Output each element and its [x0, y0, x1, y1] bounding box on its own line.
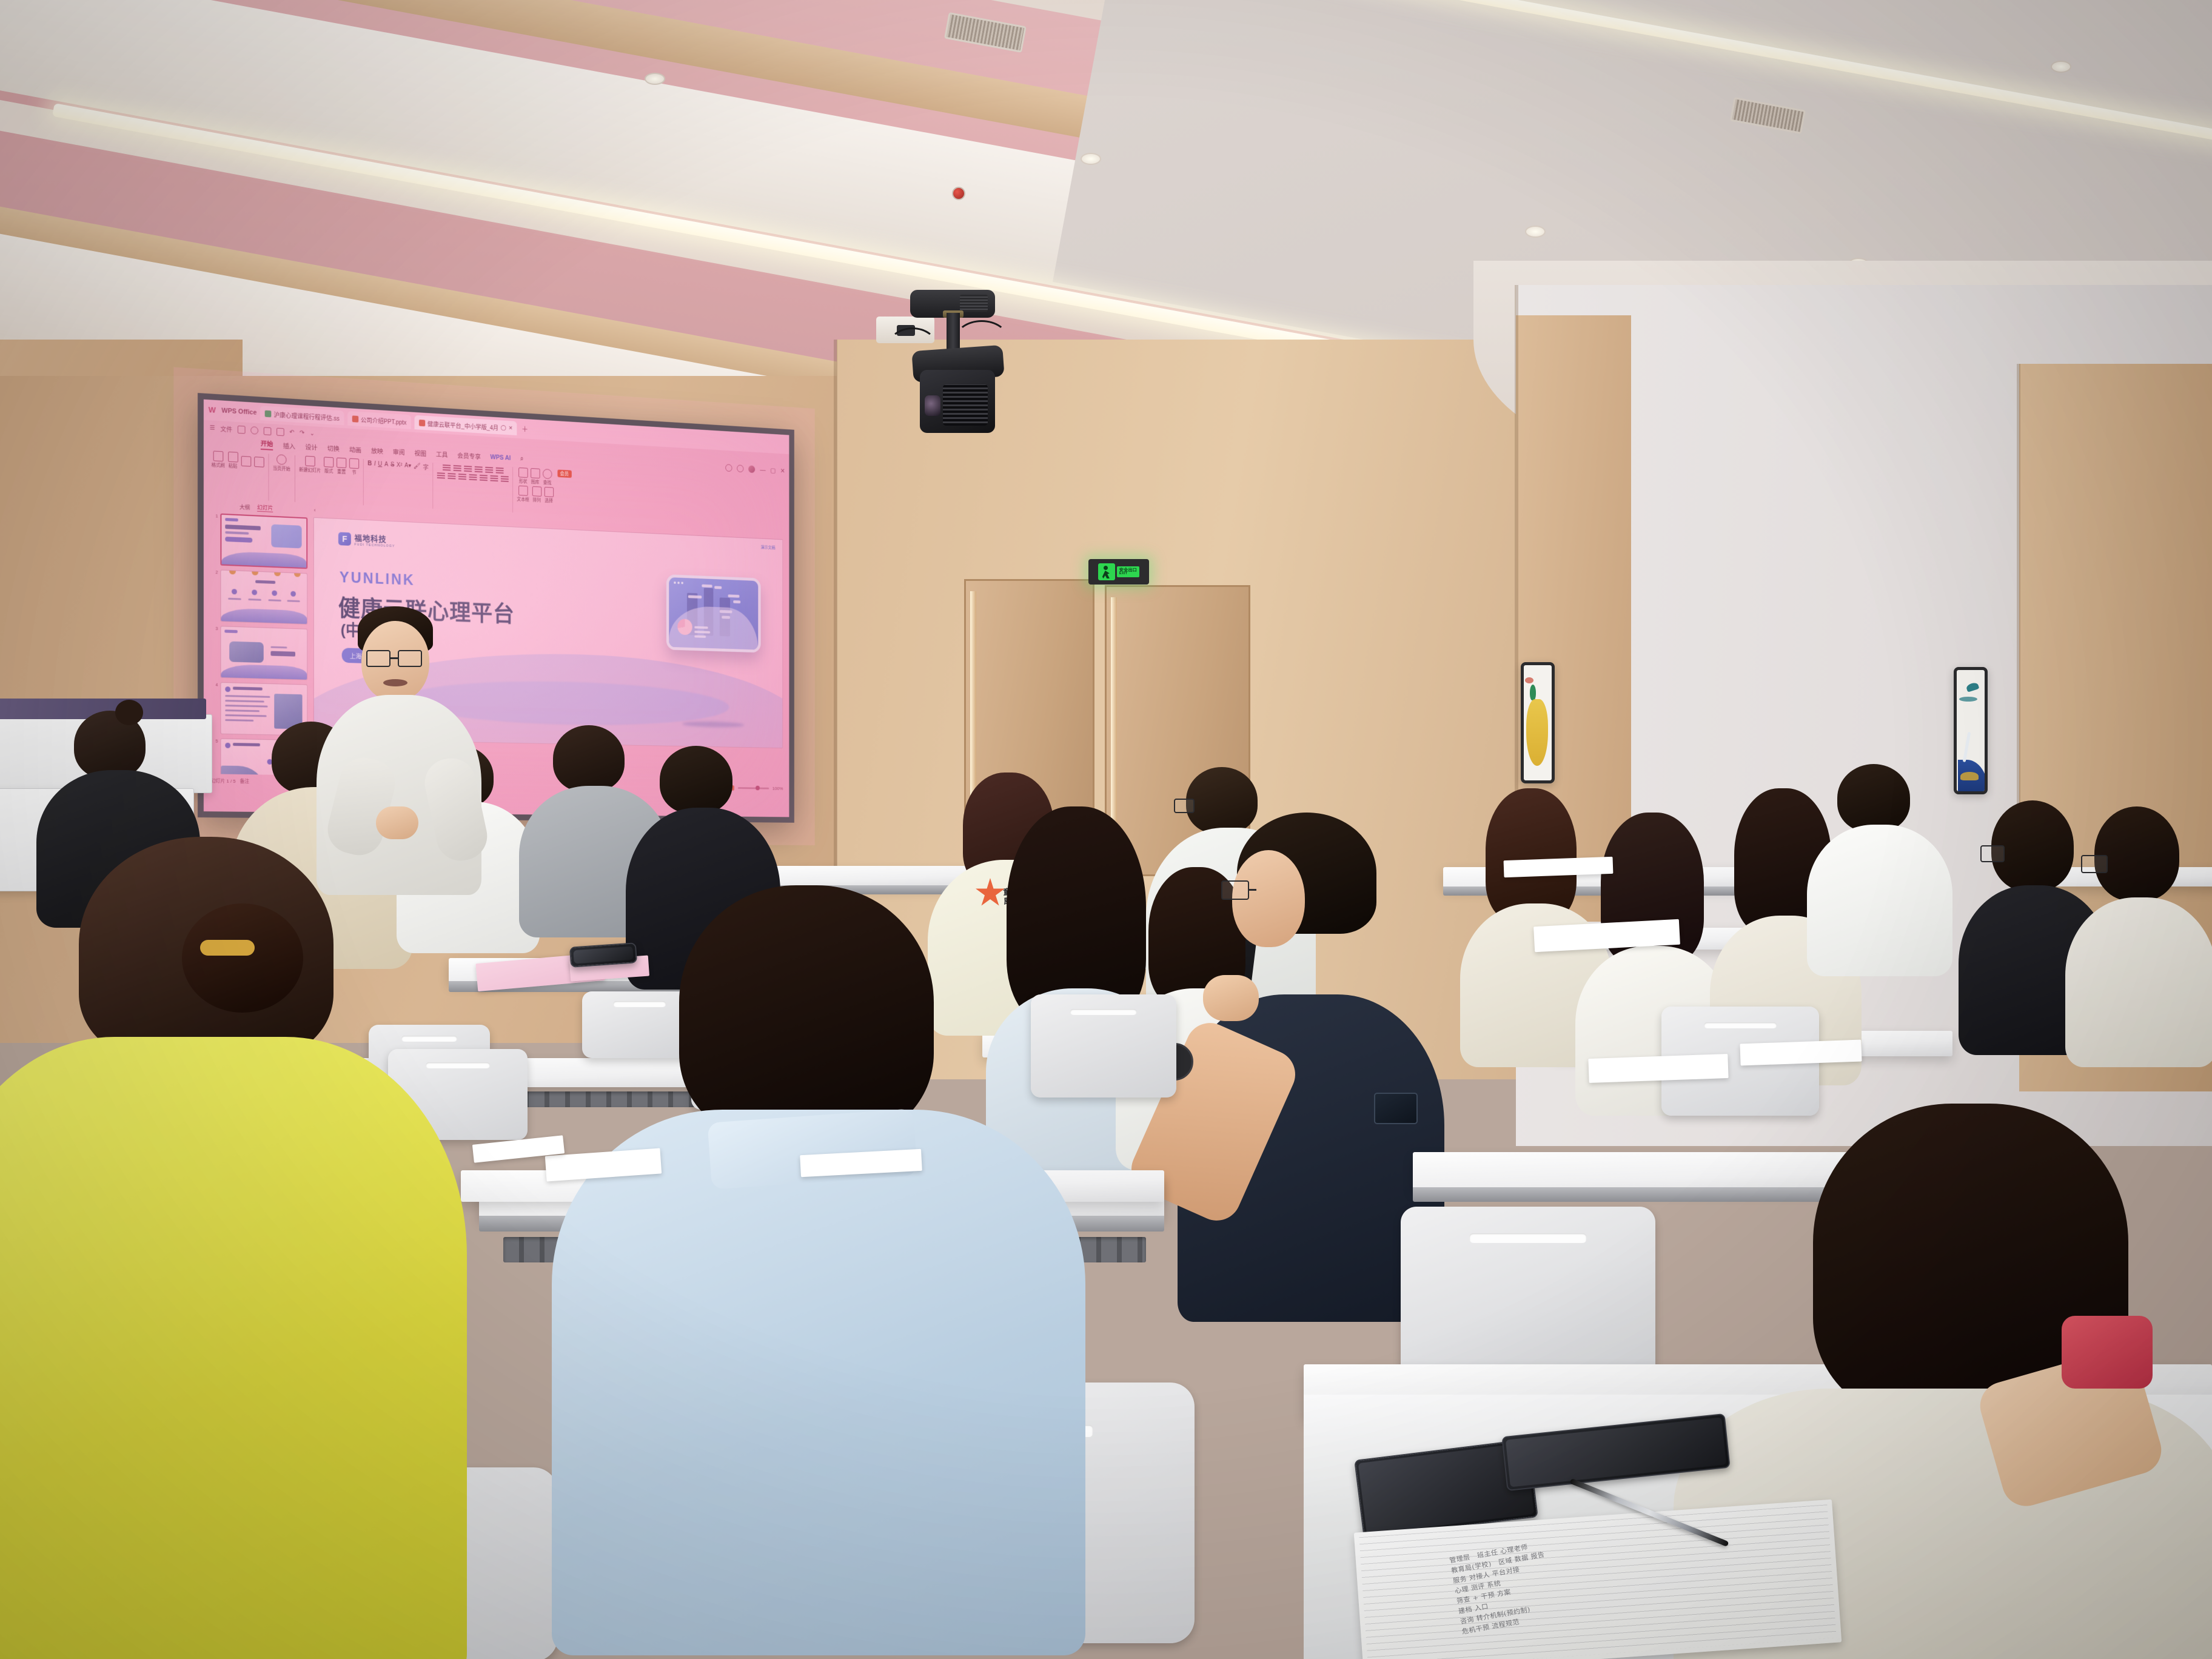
- align-right-icon[interactable]: [458, 472, 466, 480]
- file-menu[interactable]: 文件: [220, 424, 232, 434]
- find-button[interactable]: 查找: [543, 469, 552, 486]
- zoom-slider[interactable]: [738, 787, 769, 789]
- save-icon[interactable]: [238, 425, 246, 434]
- notes-toggle[interactable]: 备注: [240, 777, 250, 784]
- hamburger-icon[interactable]: ☰: [210, 424, 215, 431]
- ribbon-tab-start[interactable]: 开始: [261, 439, 273, 451]
- slide-eyebrow: YUNLINK: [340, 569, 415, 589]
- slide-corner-note: 演示文稿: [761, 545, 776, 551]
- downlight-icon: [1081, 153, 1101, 165]
- glasses-icon: [1174, 799, 1195, 813]
- new-slide-button[interactable]: 新建幻灯片: [299, 455, 321, 474]
- xls-icon: [265, 410, 272, 417]
- classroom-presentation-photo: W WPS Office 沪康心理课程行程评估.ss 公司介绍PPT.pptx …: [0, 0, 2212, 1659]
- pie-chart-icon: [677, 618, 692, 635]
- align-left-icon[interactable]: [437, 471, 445, 478]
- ribbon-tab-review[interactable]: 审阅: [393, 447, 405, 457]
- glasses-icon: [1221, 880, 1249, 900]
- ribbon-tab-slideshow[interactable]: 放映: [371, 446, 383, 456]
- hair-tie: [200, 940, 255, 956]
- textbox-button[interactable]: 文本框: [517, 486, 529, 503]
- shapes-icon: [518, 468, 528, 478]
- thumbnail-item[interactable]: 3: [213, 626, 308, 680]
- indent-decrease-icon[interactable]: [464, 464, 472, 472]
- ribbon-tab-transition[interactable]: 切换: [327, 444, 340, 454]
- new-slide-icon: [305, 456, 315, 467]
- cut-button[interactable]: [241, 456, 251, 467]
- export-icon[interactable]: [276, 427, 284, 436]
- bullet-list-icon[interactable]: [443, 463, 451, 471]
- help-icon[interactable]: [726, 464, 732, 472]
- thumbnail-number: 5: [213, 738, 218, 743]
- yellow-shirt: [0, 1037, 467, 1659]
- paste-icon: [228, 452, 238, 463]
- underline-button[interactable]: U: [378, 461, 382, 468]
- thumbnail-number: 2: [213, 569, 218, 575]
- print-icon[interactable]: [250, 426, 258, 435]
- superscript-button[interactable]: X²: [397, 462, 402, 469]
- ribbon-group-slideshow: 当页开始: [269, 454, 295, 501]
- new-tab-icon[interactable]: ＋: [521, 424, 528, 434]
- member-badge[interactable]: 会员: [557, 469, 571, 478]
- shirt-logo-patch: [1374, 1093, 1418, 1124]
- exit-sign-english: EXIT: [1119, 572, 1137, 576]
- undo-icon[interactable]: ↶: [289, 429, 294, 435]
- columns-icon[interactable]: [491, 474, 498, 481]
- presenter-hands: [376, 806, 418, 839]
- ppt-icon: [352, 415, 358, 422]
- wall-art-crane-wave: [1954, 667, 1988, 794]
- play-icon: [276, 454, 286, 465]
- format-painter-button[interactable]: 格式刷: [212, 451, 225, 469]
- text-effect-button[interactable]: A: [384, 461, 388, 468]
- restore-icon[interactable]: ◯: [501, 424, 506, 431]
- glasses-icon: [1980, 845, 2005, 862]
- gallery-button[interactable]: 图库: [531, 468, 540, 486]
- italic-button[interactable]: I: [374, 461, 376, 468]
- running-person-icon: [1098, 563, 1115, 580]
- clear-format-icon[interactable]: 字: [423, 462, 429, 471]
- preview-icon[interactable]: [264, 427, 272, 435]
- ribbon-tab-insert[interactable]: 插入: [283, 441, 295, 451]
- chair-front-3[interactable]: [1401, 1207, 1655, 1389]
- thumbnail-slide-1[interactable]: [220, 514, 307, 569]
- number-list-icon[interactable]: [453, 464, 461, 471]
- projector-body: [920, 370, 995, 433]
- cut-icon: [241, 456, 251, 467]
- indent-increase-icon[interactable]: [474, 465, 482, 472]
- layout-button[interactable]: 版式: [324, 457, 333, 474]
- thumbnail-number: 3: [213, 626, 218, 631]
- maximize-icon[interactable]: ▢: [770, 466, 776, 474]
- ribbon-tab-view[interactable]: 视图: [415, 449, 427, 458]
- wall-art-peacock: [1521, 662, 1555, 783]
- search-icon[interactable]: ⌕: [520, 455, 523, 463]
- close-icon[interactable]: ✕: [780, 467, 785, 474]
- doc-tab-label: 健康云联平台_中小学版_4月: [427, 418, 498, 431]
- textbox-icon: [518, 486, 528, 496]
- select-icon: [544, 487, 553, 497]
- doc-tab-2-active[interactable]: 健康云联平台_中小学版_4月 ◯ ✕: [415, 415, 517, 435]
- tab-outline[interactable]: 大纲: [240, 503, 250, 511]
- distribute-icon[interactable]: [480, 474, 488, 481]
- company-logo: F 福地科技 FUDI TECHNOLOGY: [338, 531, 395, 549]
- ribbon-group-clipboard: 格式刷 粘贴: [207, 451, 269, 501]
- ribbon-tab-member[interactable]: 会员专享: [457, 451, 481, 461]
- format-painter-icon: [213, 451, 223, 461]
- ribbon-group-paragraph: [433, 463, 513, 512]
- projector-lens-icon: [925, 395, 940, 416]
- ceiling-projector: [882, 285, 1022, 437]
- collapse-pane-icon[interactable]: ‹: [314, 507, 316, 513]
- sprinkler-head-icon: [952, 187, 965, 200]
- copy-button[interactable]: [254, 457, 264, 468]
- arrange-button[interactable]: 排列: [532, 486, 541, 504]
- ribbon-tab-design[interactable]: 设计: [305, 442, 317, 452]
- strikethrough-button[interactable]: S: [390, 461, 394, 468]
- more-icon[interactable]: ⌄: [310, 430, 315, 437]
- copy-icon: [254, 457, 264, 468]
- select-button[interactable]: 选择: [544, 487, 553, 504]
- thumbnail-number: 1: [213, 513, 218, 518]
- avatar[interactable]: [748, 465, 755, 473]
- minimize-icon[interactable]: —: [760, 466, 765, 474]
- thumbnail-number: 4: [213, 682, 218, 688]
- doc-tab-label: 沪康心理课程行程评估.ss: [274, 409, 340, 422]
- ribbon-group-drawing: 形状 图库 查找 文本框: [513, 467, 557, 515]
- dashboard-illustration: [666, 574, 761, 652]
- reset-button[interactable]: 重置: [337, 458, 346, 475]
- downlight-icon: [2051, 61, 2071, 73]
- highlight-icon[interactable]: 🖌: [414, 463, 421, 469]
- notebook-handwriting: 管理层 班主任 心理老师 教育局(学校) 区域 数据 报告 服务 对接人 平台对…: [1449, 1539, 1556, 1637]
- ribbon-tab-tools[interactable]: 工具: [436, 450, 448, 460]
- wps-brand-label: WPS Office: [221, 407, 256, 416]
- thumbnail-slide-2[interactable]: [220, 569, 307, 625]
- align-center-icon[interactable]: [447, 472, 455, 479]
- glasses-icon: [398, 650, 422, 667]
- share-icon[interactable]: [737, 464, 744, 472]
- emergency-exit-sign: 安全出口 EXIT: [1088, 559, 1149, 585]
- thumbnail-item[interactable]: 1: [213, 513, 308, 569]
- smartart-icon[interactable]: [501, 475, 509, 482]
- bold-button[interactable]: B: [367, 460, 372, 467]
- chair-front-2[interactable]: [1031, 994, 1176, 1098]
- zoom-level: 100%: [773, 786, 783, 791]
- paper-stack-3: [1588, 1054, 1728, 1083]
- line-spacing-icon[interactable]: [485, 466, 493, 473]
- arrange-icon: [532, 486, 541, 497]
- downlight-icon: [645, 73, 665, 85]
- doc-tab-label: 公司介绍PPT.pptx: [361, 415, 406, 426]
- hand-on-chin: [1203, 975, 1259, 1021]
- doc-tab-0[interactable]: 沪康心理课程行程评估.ss: [260, 406, 344, 425]
- ppt-icon: [419, 419, 425, 426]
- wps-logo-icon: W: [209, 406, 218, 415]
- thumbnail-item[interactable]: 2: [213, 569, 308, 625]
- close-icon[interactable]: ✕: [509, 424, 513, 431]
- red-phone-case: [2062, 1316, 2153, 1389]
- thumbnail-slide-3[interactable]: [220, 626, 307, 680]
- reset-icon: [337, 458, 346, 469]
- section-button[interactable]: 节: [349, 458, 359, 476]
- section-icon: [349, 458, 359, 469]
- paste-button[interactable]: 粘贴: [228, 452, 238, 470]
- play-from-current-button[interactable]: 当页开始: [273, 454, 290, 472]
- gallery-icon: [531, 468, 540, 478]
- ribbon-group-slides: 新建幻灯片 版式 重置 节: [295, 455, 364, 506]
- downlight-icon: [1525, 226, 1546, 238]
- ribbon-group-font: B I U A S X² A▾ 🖌 字: [364, 459, 434, 509]
- ribbon-tab-wps-ai[interactable]: WPS AI: [491, 454, 511, 461]
- doc-tab-1[interactable]: 公司介绍PPT.pptx: [347, 411, 411, 429]
- glasses-icon: [366, 650, 390, 667]
- layout-icon: [324, 457, 333, 468]
- ribbon-tab-animation[interactable]: 动画: [349, 445, 361, 455]
- paper-stack-4: [1740, 1040, 1862, 1066]
- font-color-icon[interactable]: A▾: [404, 463, 411, 469]
- blue-shirt: [552, 1110, 1085, 1655]
- shapes-button[interactable]: 形状: [518, 468, 528, 485]
- justify-icon[interactable]: [469, 473, 477, 480]
- tab-slides[interactable]: 幻灯片: [257, 503, 273, 512]
- fudi-logo-icon: F: [338, 532, 351, 546]
- text-direction-icon[interactable]: [495, 466, 503, 474]
- glasses-icon: [2081, 855, 2108, 873]
- slide-counter: 幻灯片 1 / 5: [211, 777, 236, 785]
- redo-icon[interactable]: ↷: [300, 429, 304, 436]
- find-icon: [543, 469, 552, 479]
